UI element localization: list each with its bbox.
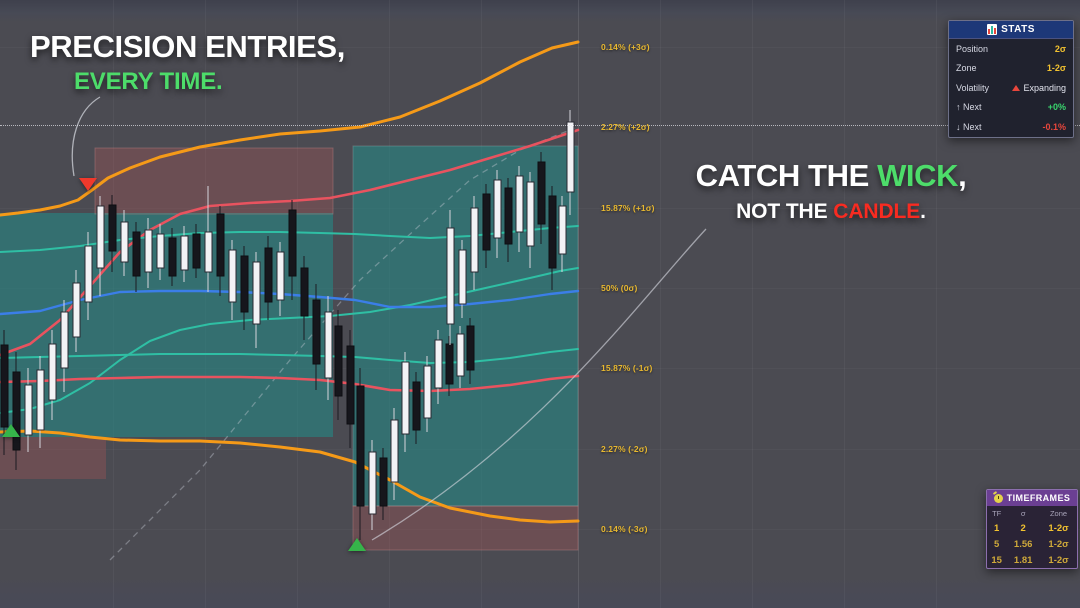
sigma-label-zero: 50% (0σ) <box>601 283 637 293</box>
stats-panel[interactable]: STATS Position 2σ Zone 1-2σ Volatility E… <box>948 20 1074 138</box>
stats-value-text: Expanding <box>1023 83 1066 93</box>
headline-right-line1-suffix: , <box>958 158 966 193</box>
stats-row-next-down: ↓ Next -0.1% <box>949 117 1073 137</box>
stats-key: Zone <box>956 63 977 73</box>
stats-row-next-up: ↑ Next +0% <box>949 98 1073 118</box>
stats-value: -0.1% <box>1042 122 1066 132</box>
stats-key: ↑ Next <box>956 102 982 112</box>
table-row[interactable]: 15 1.81 1-2σ <box>987 552 1077 568</box>
timeframes-cell-sigma: 1.56 <box>1006 536 1040 552</box>
sigma-label-minus3: 0.14% (-3σ) <box>601 524 648 534</box>
timeframes-col-zone: Zone <box>1040 506 1077 520</box>
headline-left-line1: PRECISION ENTRIES, <box>30 31 345 64</box>
headline-left: PRECISION ENTRIES, EVERY TIME. <box>30 31 345 97</box>
triangle-up-icon <box>1012 85 1020 91</box>
headline-right-line2-accent: CANDLE <box>833 200 920 223</box>
timeframes-cell-tf: 15 <box>987 552 1006 568</box>
stats-key: Volatility <box>956 83 989 93</box>
stats-key: ↓ Next <box>956 122 982 132</box>
bar-chart-icon <box>987 24 997 35</box>
stats-row-zone: Zone 1-2σ <box>949 59 1073 79</box>
headline-right-line1: CATCH THE WICK, <box>661 160 1001 193</box>
sigma-label-plus2: 2.27% (+2σ) <box>601 122 650 132</box>
headline-right-line1-prefix: CATCH THE <box>696 158 877 193</box>
sigma-label-minus2: 2.27% (-2σ) <box>601 444 648 454</box>
headline-right-line2-prefix: NOT THE <box>736 200 833 223</box>
stats-row-volatility: Volatility Expanding <box>949 78 1073 98</box>
stats-value: Expanding <box>1012 83 1066 93</box>
headline-left-line2: EVERY TIME. <box>74 67 345 97</box>
stats-row-position: Position 2σ <box>949 39 1073 59</box>
timeframes-table: TF σ Zone 1 2 1-2σ 5 1.56 1-2σ 15 <box>987 506 1077 568</box>
headline-right-line2: NOT THE CANDLE. <box>661 198 1001 225</box>
screenshot-stage: 0.14% (+3σ) 2.27% (+2σ) 15.87% (+1σ) 50%… <box>0 0 1080 608</box>
timeframes-cell-sigma: 1.81 <box>1006 552 1040 568</box>
timeframes-col-sigma: σ <box>1006 506 1040 520</box>
stats-value: 2σ <box>1055 44 1066 54</box>
timeframes-cell-zone: 1-2σ <box>1040 552 1077 568</box>
timeframes-cell-tf: 1 <box>987 520 1006 536</box>
buy-marker-triangle-up-icon <box>348 538 366 551</box>
buy-marker-triangle-up-icon <box>2 424 20 437</box>
stats-value: +0% <box>1048 102 1066 112</box>
timeframes-header-row: TF σ Zone <box>987 506 1077 520</box>
headline-right-line2-suffix: . <box>920 200 926 223</box>
headline-right-line1-accent: WICK <box>877 158 958 193</box>
stats-key: Position <box>956 44 988 54</box>
sigma-label-plus1: 15.87% (+1σ) <box>601 203 655 213</box>
timeframes-panel-title: TIMEFRAMES <box>1007 493 1071 503</box>
sell-marker-triangle-down-icon <box>79 178 97 191</box>
stats-value: 1-2σ <box>1047 63 1066 73</box>
table-row[interactable]: 1 2 1-2σ <box>987 520 1077 536</box>
timeframes-panel-header: TIMEFRAMES <box>987 490 1077 506</box>
current-price-dotted-line <box>0 125 1080 126</box>
stats-panel-title: STATS <box>1001 24 1035 35</box>
timeframes-cell-zone: 1-2σ <box>1040 536 1077 552</box>
timeframes-cell-sigma: 2 <box>1006 520 1040 536</box>
clock-icon <box>994 494 1003 503</box>
timeframes-panel[interactable]: TIMEFRAMES TF σ Zone 1 2 1-2σ 5 1.56 <box>986 489 1078 569</box>
timeframes-col-tf: TF <box>987 506 1006 520</box>
zone-rectangles <box>0 146 578 550</box>
candle <box>335 310 342 420</box>
timeframes-cell-tf: 5 <box>987 536 1006 552</box>
table-row[interactable]: 5 1.56 1-2σ <box>987 536 1077 552</box>
sigma-label-plus3: 0.14% (+3σ) <box>601 42 650 52</box>
sigma-label-minus1: 15.87% (-1σ) <box>601 363 652 373</box>
headline-right: CATCH THE WICK, NOT THE CANDLE. <box>661 160 1001 225</box>
timeframes-cell-zone: 1-2σ <box>1040 520 1077 536</box>
stats-panel-header: STATS <box>949 21 1073 39</box>
